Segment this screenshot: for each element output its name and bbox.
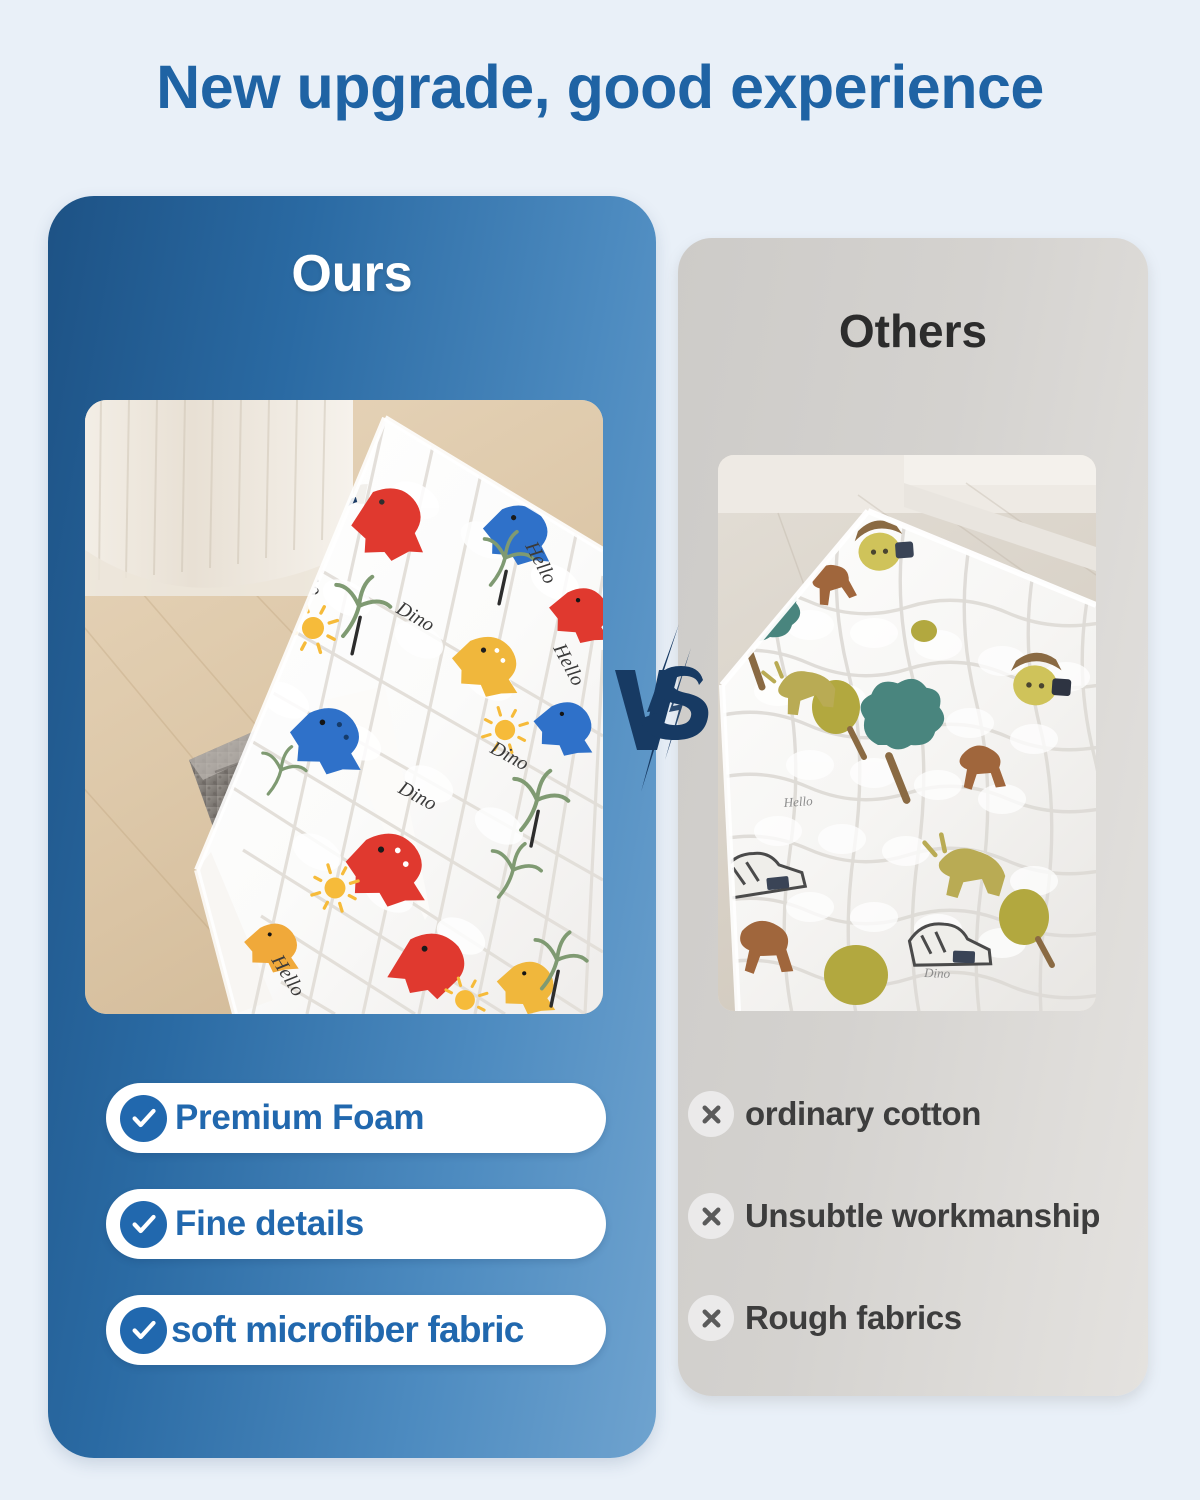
feature-pill-label: Premium Foam (175, 1098, 424, 1138)
page-title: New upgrade, good experience (0, 52, 1200, 122)
check-circle-icon (120, 1095, 167, 1142)
svg-text:Hello: Hello (782, 793, 813, 810)
feature-pill-soft-microfiber-fabric[interactable]: soft microfiber fabric (106, 1295, 606, 1365)
con-row-ordinary-cotton: ordinary cotton (688, 1087, 1148, 1141)
check-circle-icon (120, 1201, 167, 1248)
feature-pill-label: Fine details (175, 1204, 364, 1244)
con-label: Unsubtle workmanship (745, 1197, 1100, 1235)
feature-pill-fine-details[interactable]: Fine details (106, 1189, 606, 1259)
x-circle-icon (688, 1091, 734, 1137)
ours-panel: Ours (48, 196, 656, 1458)
con-label: ordinary cotton (745, 1095, 981, 1133)
others-panel-title: Others (678, 304, 1148, 358)
check-circle-icon (120, 1307, 167, 1354)
feature-pill-label: soft microfiber fabric (171, 1309, 523, 1351)
ours-feature-list: Premium Foam Fine details soft microfibe… (106, 1083, 606, 1365)
svg-text:Dino: Dino (923, 965, 951, 981)
feature-pill-premium-foam[interactable]: Premium Foam (106, 1083, 606, 1153)
others-feature-list: ordinary cotton Unsubtle workmanship Rou… (688, 1087, 1148, 1345)
x-circle-icon (688, 1295, 734, 1341)
con-row-unsubtle-workmanship: Unsubtle workmanship (688, 1189, 1148, 1243)
others-panel: Others (678, 238, 1148, 1396)
x-circle-icon (688, 1193, 734, 1239)
con-label: Rough fabrics (745, 1299, 962, 1337)
vs-lightning-icon (607, 618, 717, 798)
con-row-rough-fabrics: Rough fabrics (688, 1291, 1148, 1345)
ours-panel-title: Ours (48, 244, 656, 304)
comparison-infographic: New upgrade, good experience Ours (0, 0, 1200, 1500)
others-product-photo: Hello Dino (718, 455, 1096, 1011)
ours-product-photo: Hello Hello Dino Dino Hello Dino Hello (85, 400, 603, 1014)
